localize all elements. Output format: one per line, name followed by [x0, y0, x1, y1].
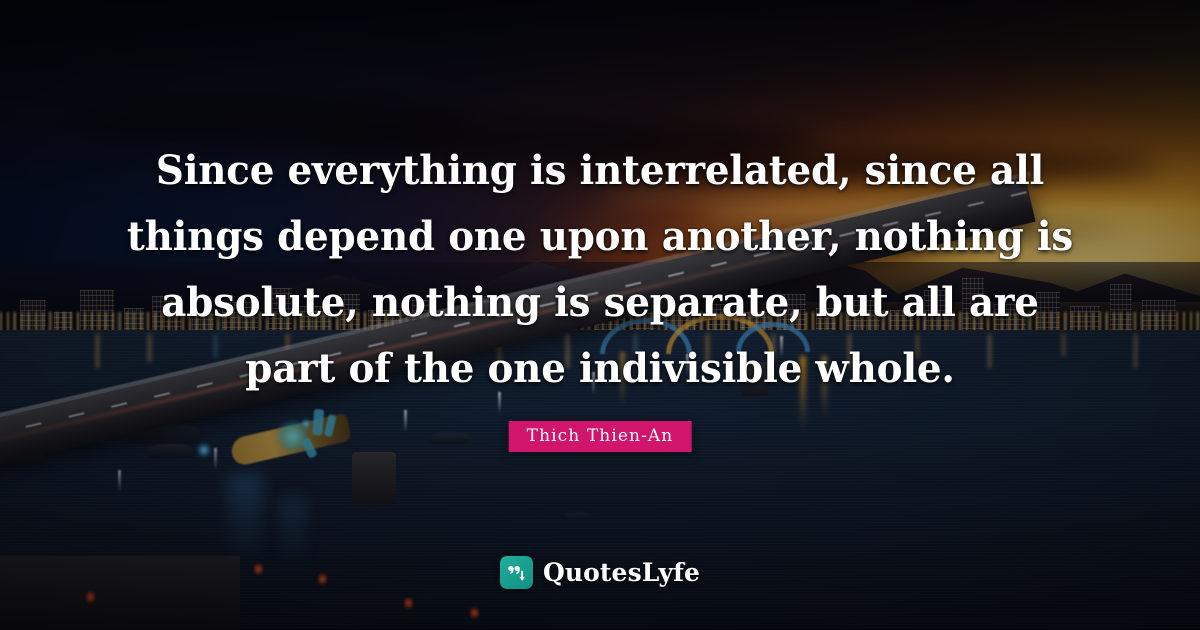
quote-card: Since everything is interrelated, since …: [0, 0, 1200, 630]
author-badge[interactable]: Thich Thien-An: [509, 421, 692, 452]
quote-line-2: things depend one upon another, nothing …: [115, 204, 1085, 270]
quote-line-1: Since everything is interrelated, since …: [115, 138, 1085, 204]
card-content: Since everything is interrelated, since …: [0, 0, 1200, 630]
quote-line-3: absolute, nothing is separate, but all a…: [115, 270, 1085, 336]
quote-line-4: part of the one indivisible whole.: [115, 336, 1085, 402]
quote-text: Since everything is interrelated, since …: [0, 138, 1200, 402]
quoteslyfe-logo[interactable]: QuotesLyfe: [500, 556, 700, 589]
brand-name: QuotesLyfe: [543, 558, 700, 587]
quote-mark-icon: [500, 556, 533, 589]
